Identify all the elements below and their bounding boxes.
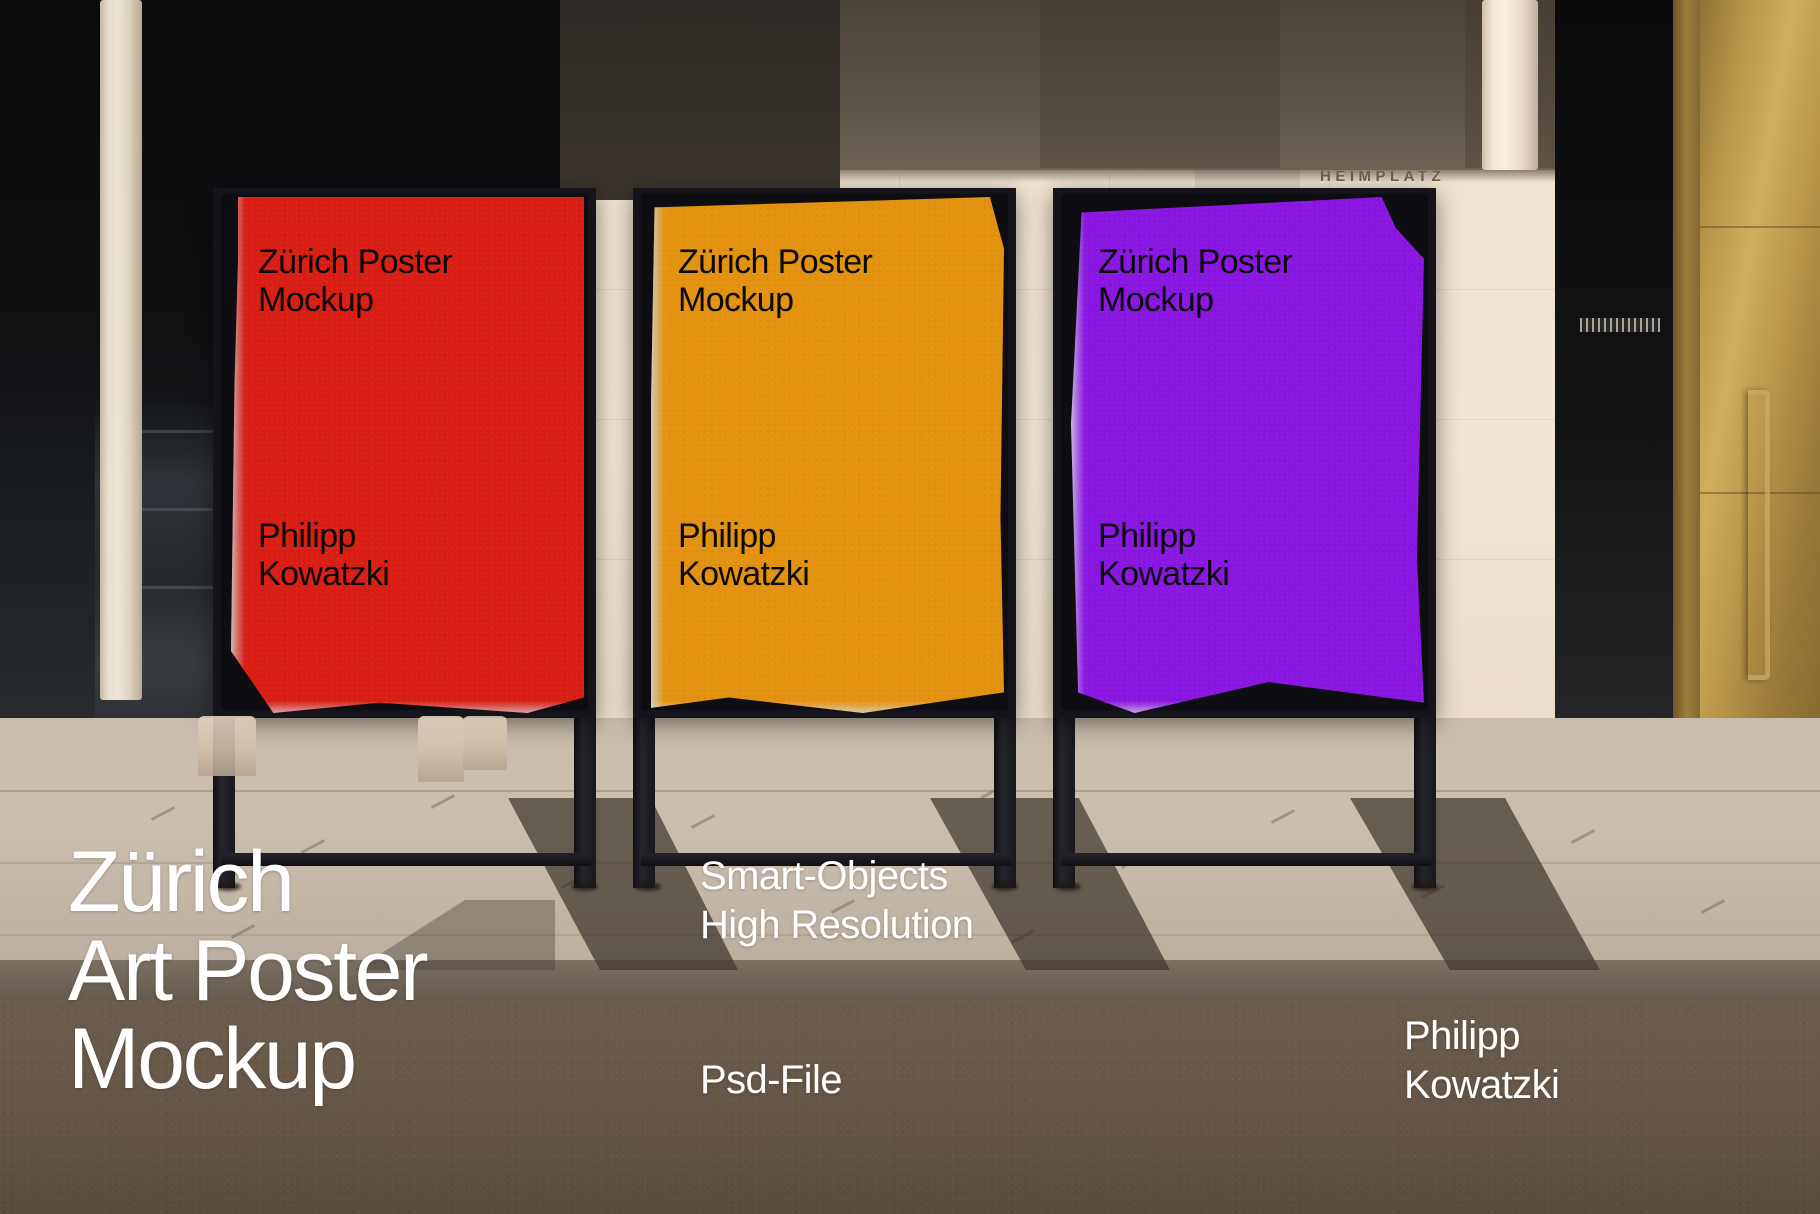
brass-door-frame <box>1673 0 1703 728</box>
headline-title: Zürich Art Poster Mockup <box>68 838 426 1104</box>
poster-title: Zürich Poster Mockup <box>678 243 872 319</box>
portico-column <box>100 0 142 700</box>
facade-sign-heimplatz: HEIMPLATZ <box>1320 168 1445 185</box>
poster-red[interactable]: Zürich Poster Mockup Philipp Kowatzki <box>231 197 584 713</box>
billboard-foot <box>1412 882 1438 891</box>
poster-orange[interactable]: Zürich Poster Mockup Philipp Kowatzki <box>651 197 1004 713</box>
facade-shade <box>1040 0 1280 168</box>
billboard-foot <box>992 882 1018 891</box>
poster-purple[interactable]: Zürich Poster Mockup Philipp Kowatzki <box>1071 197 1424 713</box>
poster-mockup-scene: HEIMPLATZ <box>0 0 1820 1214</box>
dark-recess <box>560 0 840 200</box>
billboard-foot <box>1055 882 1081 891</box>
features-label: Smart-Objects High Resolution <box>700 852 973 950</box>
billboard-foot <box>572 882 598 891</box>
portico-column <box>1482 0 1538 170</box>
poster-title: Zürich Poster Mockup <box>258 243 452 319</box>
billboard-foot <box>635 882 661 891</box>
billboard-orange[interactable]: Zürich Poster Mockup Philipp Kowatzki <box>633 188 1028 888</box>
vent-grille-icon <box>1580 318 1660 332</box>
brass-panel-seam <box>1700 226 1820 228</box>
billboard-crossbar <box>1061 853 1431 866</box>
billboard-red[interactable]: Zürich Poster Mockup Philipp Kowatzki <box>213 188 608 888</box>
stone-plinth <box>463 716 507 770</box>
filetype-label: Psd-File <box>700 1060 842 1102</box>
stone-plinth <box>418 716 464 782</box>
poster-author: Philipp Kowatzki <box>1098 517 1229 593</box>
credit-label: Philipp Kowatzki <box>1404 1012 1559 1110</box>
door-handle[interactable] <box>1748 390 1770 680</box>
billboard-purple[interactable]: Zürich Poster Mockup Philipp Kowatzki <box>1053 188 1448 888</box>
poster-title: Zürich Poster Mockup <box>1098 243 1292 319</box>
dark-glass-panel <box>1555 0 1675 720</box>
poster-author: Philipp Kowatzki <box>678 517 809 593</box>
poster-author: Philipp Kowatzki <box>258 517 389 593</box>
stone-plinth <box>198 716 256 776</box>
